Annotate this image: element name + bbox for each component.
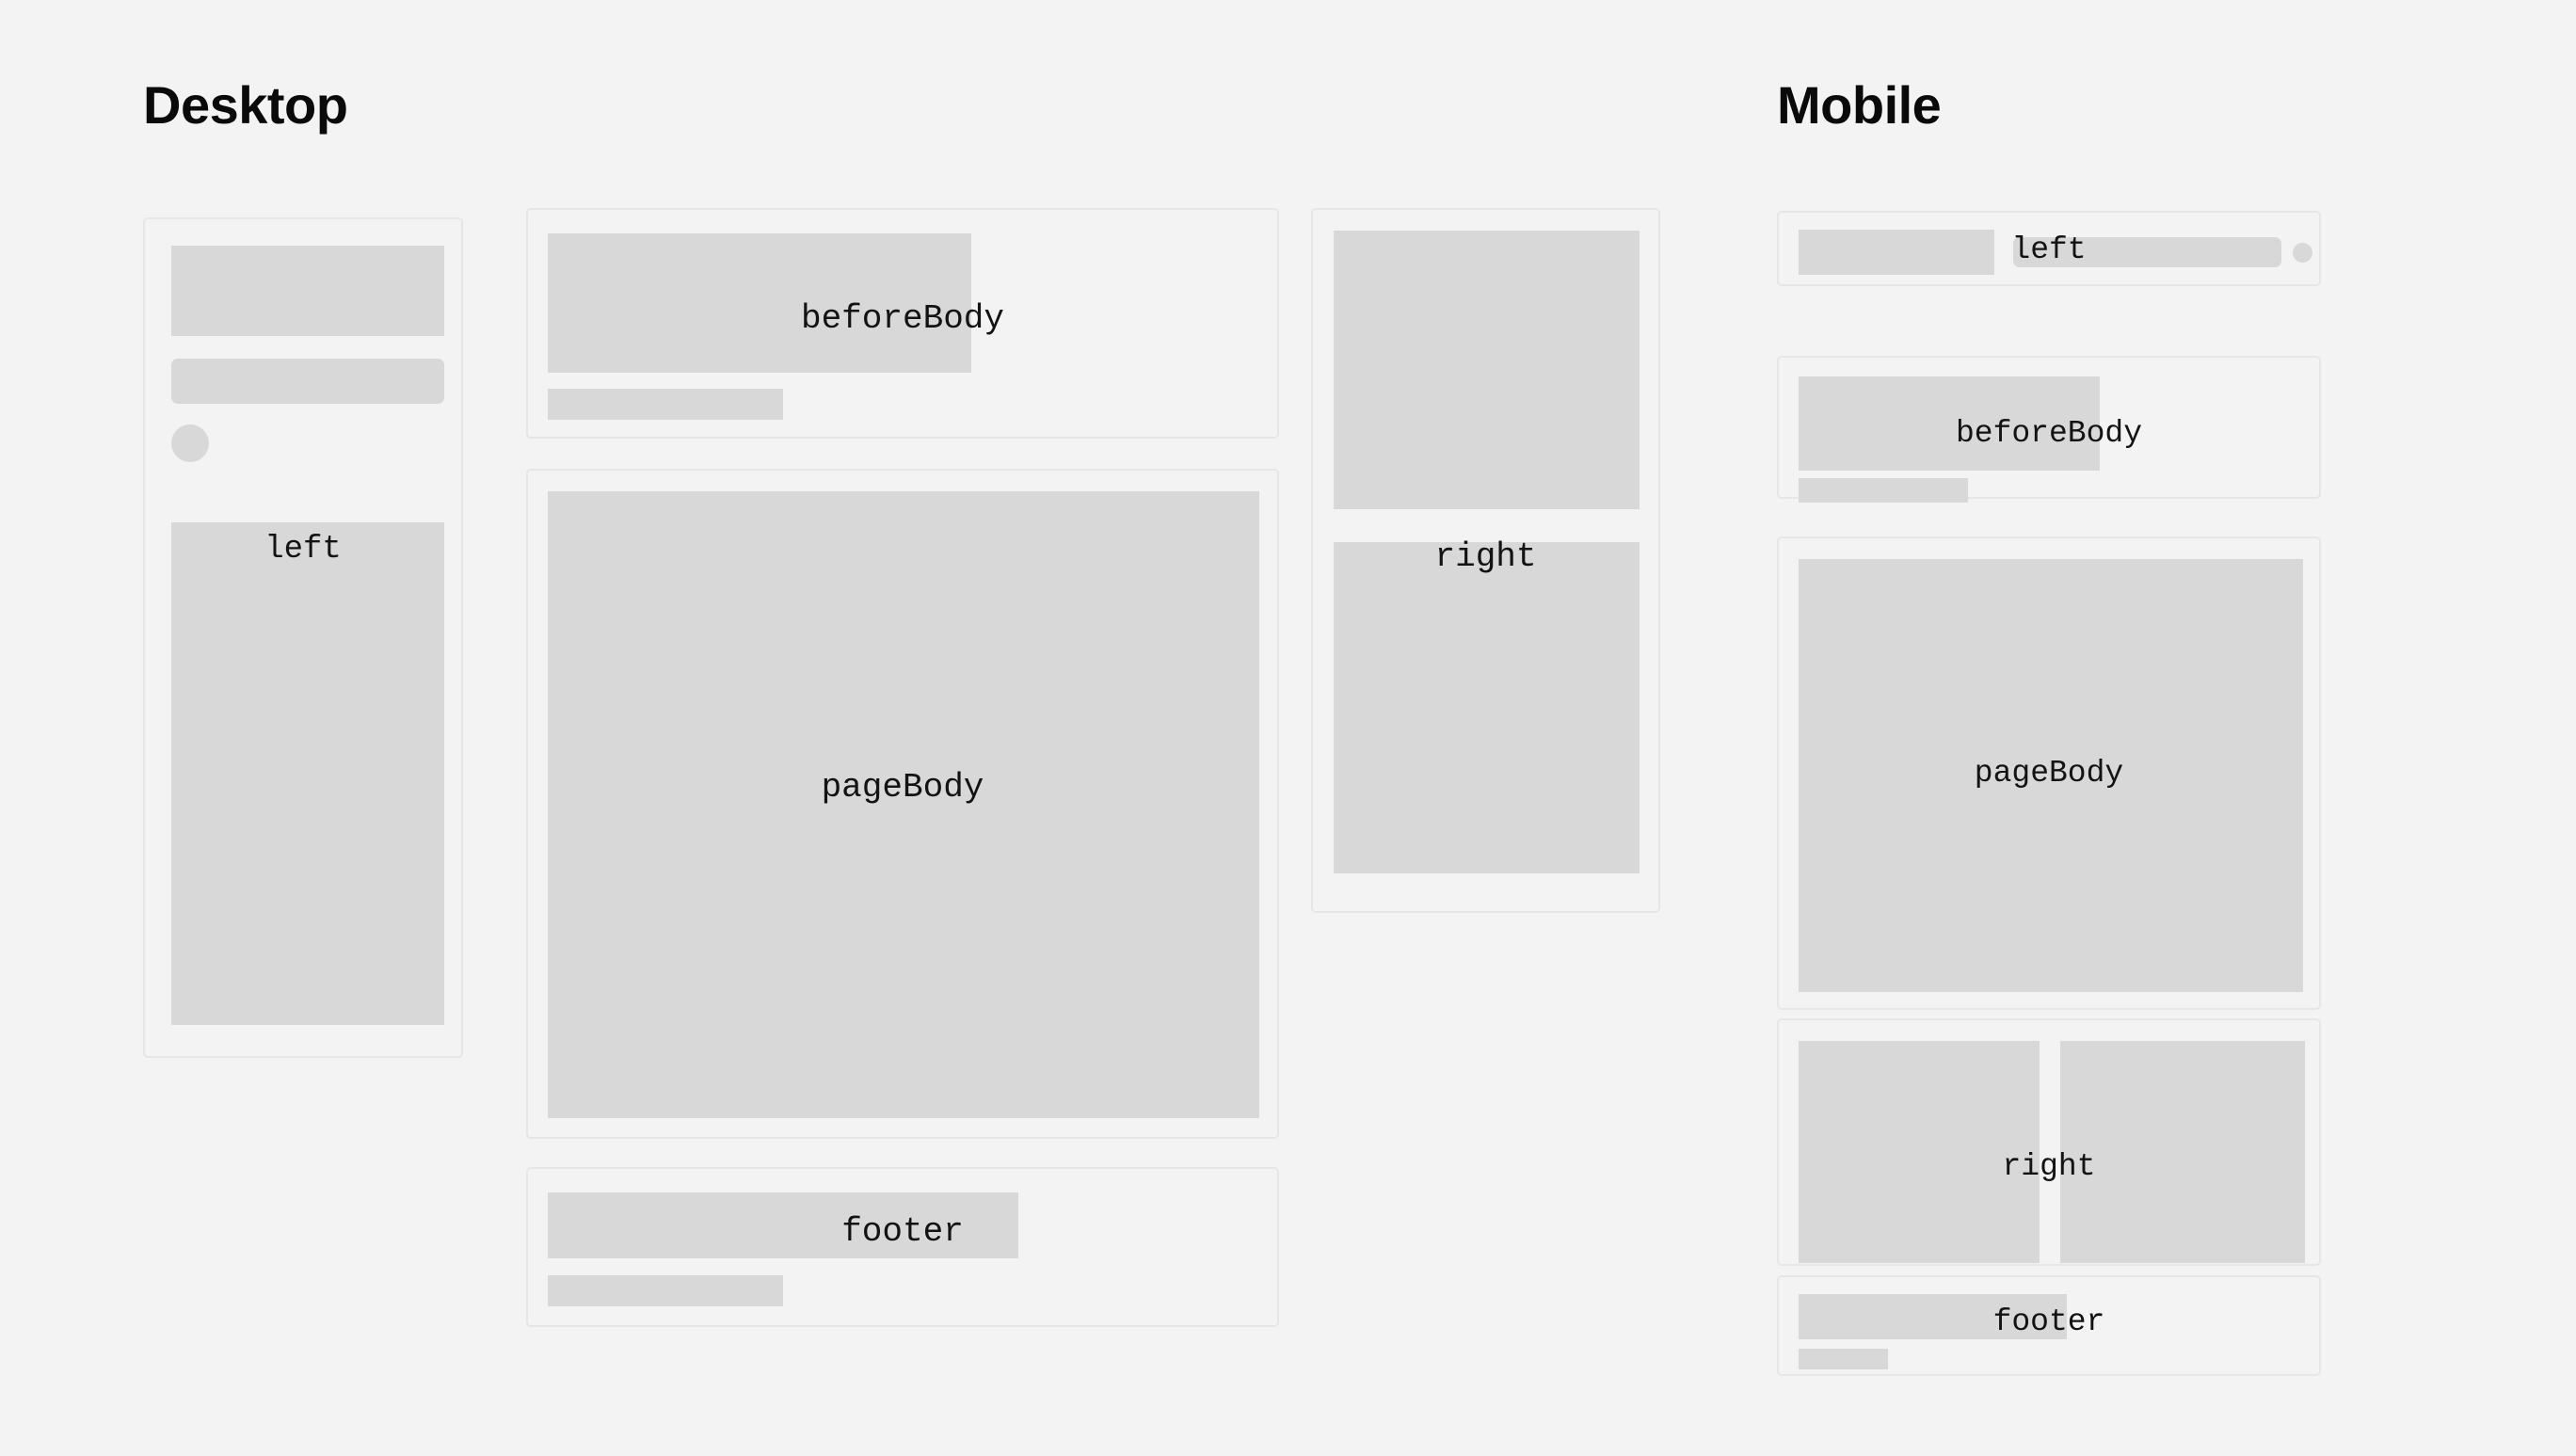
skeleton-block <box>171 246 444 336</box>
desktop-region-left[interactable] <box>143 217 463 1058</box>
skeleton-avatar-circle <box>2293 243 2312 263</box>
skeleton-block <box>1799 376 2100 471</box>
skeleton-block <box>2060 1041 2305 1263</box>
mobile-section-title: Mobile <box>1777 79 1941 132</box>
desktop-region-footer[interactable] <box>526 1167 1279 1327</box>
skeleton-block <box>1799 1041 2040 1263</box>
mobile-region-pagebody[interactable] <box>1777 536 2321 1010</box>
skeleton-avatar-circle <box>171 424 209 462</box>
skeleton-block <box>171 359 444 404</box>
mobile-region-left[interactable] <box>1777 211 2321 286</box>
mobile-region-right[interactable] <box>1777 1018 2321 1266</box>
skeleton-block <box>1334 542 1640 873</box>
desktop-section-title: Desktop <box>143 79 347 132</box>
skeleton-block <box>548 1192 1018 1258</box>
skeleton-block <box>1799 478 1968 503</box>
skeleton-block <box>548 233 971 373</box>
desktop-region-pagebody[interactable] <box>526 469 1279 1139</box>
desktop-region-beforebody[interactable] <box>526 208 1279 439</box>
skeleton-block <box>548 1275 783 1306</box>
desktop-region-right[interactable] <box>1311 208 1660 913</box>
mobile-region-beforebody[interactable] <box>1777 356 2321 499</box>
skeleton-block <box>1799 1349 1888 1369</box>
skeleton-block <box>548 491 1259 1118</box>
skeleton-block <box>548 389 783 420</box>
wireframe-canvas: Desktop left beforeBody pageBody right f… <box>0 0 2576 1456</box>
skeleton-block <box>1799 559 2303 992</box>
mobile-region-footer[interactable] <box>1777 1275 2321 1376</box>
skeleton-block <box>1799 230 1994 275</box>
skeleton-block <box>1334 231 1640 509</box>
skeleton-block <box>2013 237 2281 267</box>
skeleton-block <box>171 522 444 1025</box>
skeleton-block <box>1799 1294 2067 1339</box>
